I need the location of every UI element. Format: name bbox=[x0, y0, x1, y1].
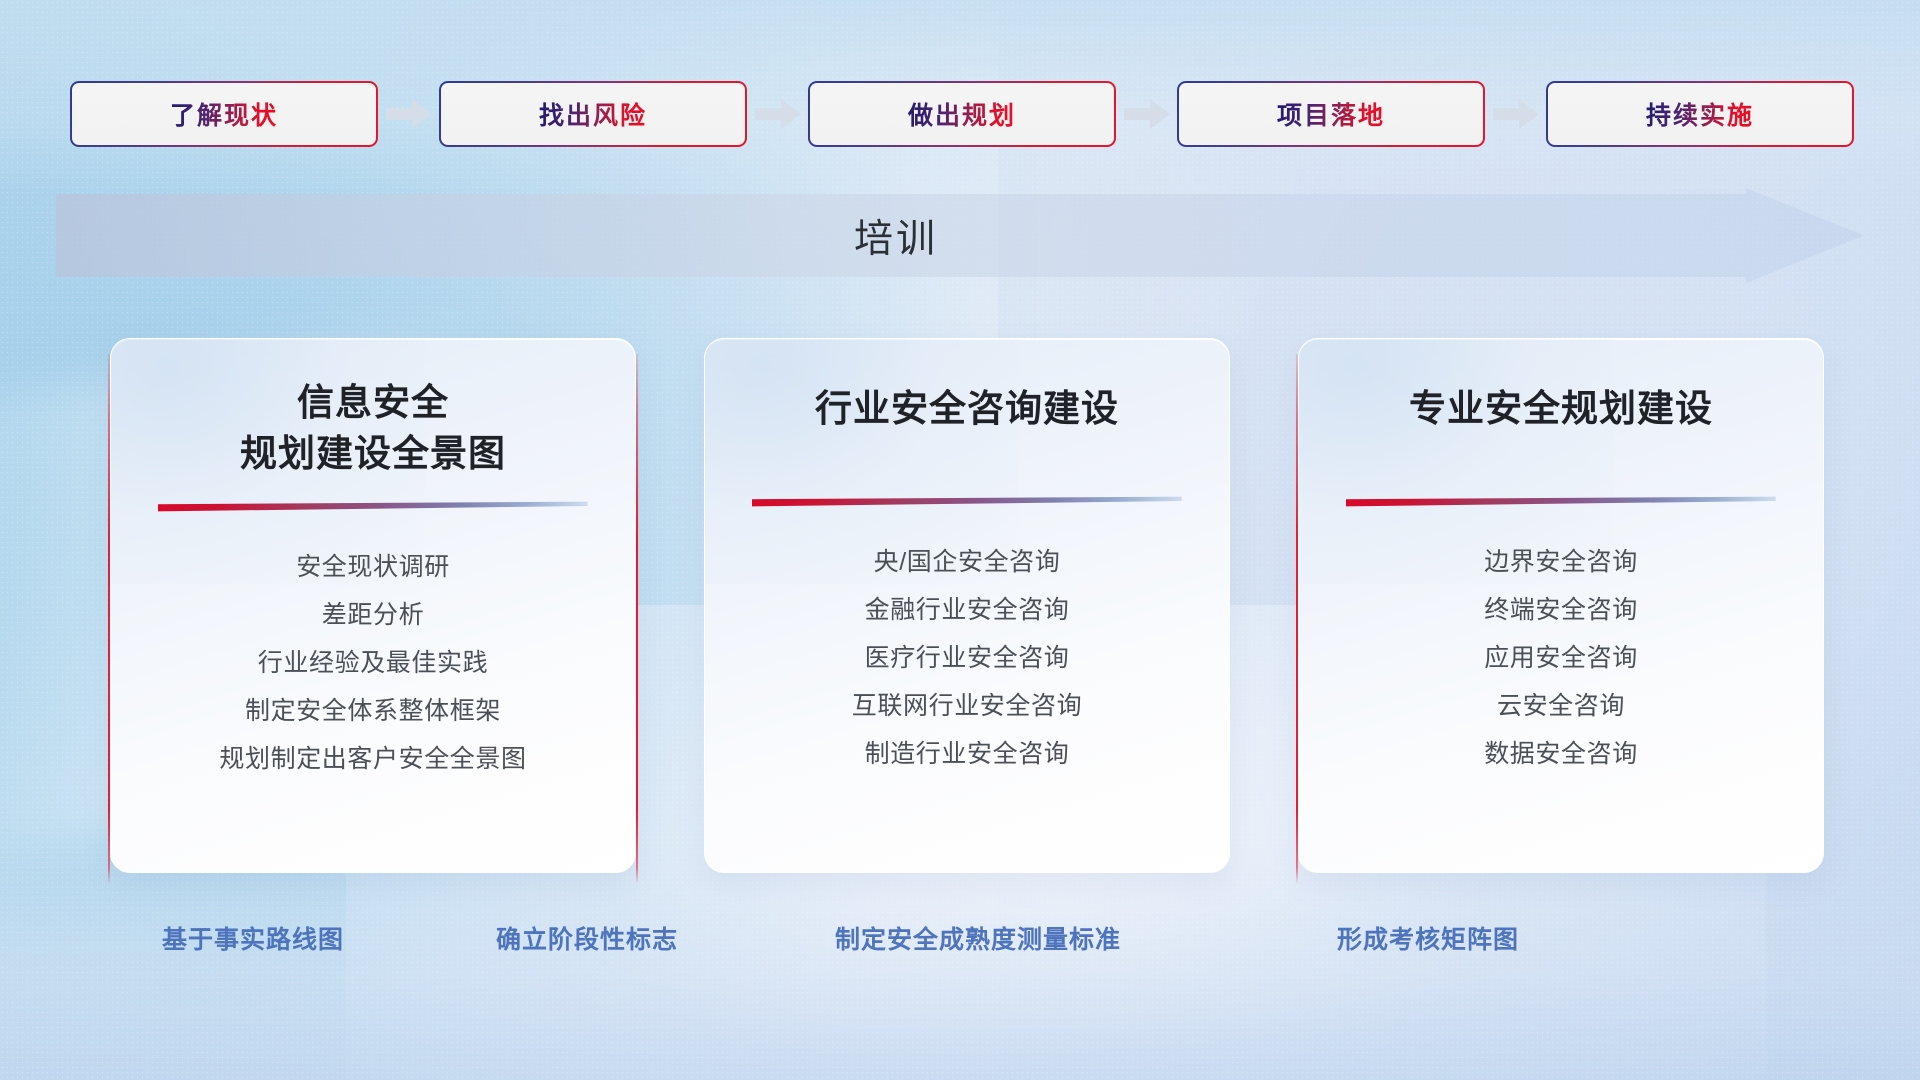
card-divider bbox=[752, 496, 1182, 510]
bottom-label-3: 制定安全成熟度测量标准 bbox=[835, 920, 1121, 956]
list-item: 金融行业安全咨询 bbox=[705, 586, 1229, 634]
list-item: 边界安全咨询 bbox=[1299, 538, 1823, 586]
process-step-3[interactable]: 做出规划 bbox=[808, 81, 1116, 147]
card-wrapper-2: 行业安全咨询建设 bbox=[702, 338, 1232, 883]
card-wrapper-3: 专业安全规划建设 bbox=[1296, 338, 1826, 883]
list-item: 数据安全咨询 bbox=[1299, 730, 1823, 778]
list-item: 制定安全体系整体框架 bbox=[111, 687, 635, 735]
list-item: 终端安全咨询 bbox=[1299, 586, 1823, 634]
slide-stage: 了解现状 找出风险 做出规划 项目落地 bbox=[0, 0, 1920, 1080]
card-item-list: 安全现状调研 差距分析 行业经验及最佳实践 制定安全体系整体框架 规划制定出客户… bbox=[111, 543, 635, 783]
list-item: 行业经验及最佳实践 bbox=[111, 639, 635, 687]
card-title-line: 专业安全规划建设 bbox=[1409, 383, 1713, 434]
right-arrow-icon bbox=[1485, 97, 1546, 131]
process-step-label: 持续实施 bbox=[1646, 96, 1754, 132]
card-item-list: 央/国企安全咨询 金融行业安全咨询 医疗行业安全咨询 互联网行业安全咨询 制造行… bbox=[705, 538, 1229, 778]
card-title-line: 行业安全咨询建设 bbox=[815, 383, 1119, 434]
training-banner: 培训 bbox=[56, 188, 1864, 283]
list-item: 医疗行业安全咨询 bbox=[705, 634, 1229, 682]
card-title-line: 规划建设全景图 bbox=[240, 428, 506, 479]
card-title: 信息安全 规划建设全景图 bbox=[240, 377, 506, 479]
right-arrow-icon bbox=[747, 97, 808, 131]
card-wrapper-1: 信息安全 规划建设全景图 bbox=[108, 338, 638, 883]
card-divider bbox=[158, 501, 588, 515]
list-item: 应用安全咨询 bbox=[1299, 634, 1823, 682]
list-item: 安全现状调研 bbox=[111, 543, 635, 591]
process-step-5[interactable]: 持续实施 bbox=[1546, 81, 1854, 147]
bottom-label-row: 基于事实路线图 确立阶段性标志 制定安全成熟度测量标准 形成考核矩阵图 bbox=[0, 920, 1920, 960]
bottom-label-2: 确立阶段性标志 bbox=[496, 920, 678, 956]
cards-row: 信息安全 规划建设全景图 bbox=[108, 338, 1826, 883]
process-step-2[interactable]: 找出风险 bbox=[439, 81, 747, 147]
list-item: 云安全咨询 bbox=[1299, 682, 1823, 730]
card-right-accent-bar bbox=[636, 354, 638, 884]
process-step-label: 项目落地 bbox=[1277, 96, 1385, 132]
card-title-line: 信息安全 bbox=[240, 377, 506, 428]
process-step-4[interactable]: 项目落地 bbox=[1177, 81, 1485, 147]
card-title: 专业安全规划建设 bbox=[1409, 383, 1713, 434]
process-step-label: 找出风险 bbox=[539, 96, 647, 132]
process-step-label: 做出规划 bbox=[908, 96, 1016, 132]
process-step-1[interactable]: 了解现状 bbox=[70, 81, 378, 147]
bottom-label-4: 形成考核矩阵图 bbox=[1337, 920, 1519, 956]
training-banner-label: 培训 bbox=[56, 188, 1736, 283]
bottom-label-1: 基于事实路线图 bbox=[162, 920, 344, 956]
card-item-list: 边界安全咨询 终端安全咨询 应用安全咨询 云安全咨询 数据安全咨询 bbox=[1299, 538, 1823, 778]
list-item: 制造行业安全咨询 bbox=[705, 730, 1229, 778]
right-arrow-icon bbox=[378, 97, 439, 131]
process-step-row: 了解现状 找出风险 做出规划 项目落地 bbox=[70, 80, 1854, 148]
list-item: 差距分析 bbox=[111, 591, 635, 639]
right-arrow-icon bbox=[1116, 97, 1177, 131]
card-information-security-panorama[interactable]: 信息安全 规划建设全景图 bbox=[110, 338, 636, 873]
card-title: 行业安全咨询建设 bbox=[815, 383, 1119, 434]
card-industry-security-consulting[interactable]: 行业安全咨询建设 bbox=[704, 338, 1230, 873]
card-professional-security-planning[interactable]: 专业安全规划建设 bbox=[1298, 338, 1824, 873]
list-item: 互联网行业安全咨询 bbox=[705, 682, 1229, 730]
card-divider bbox=[1346, 496, 1776, 510]
process-step-label: 了解现状 bbox=[170, 96, 278, 132]
list-item: 规划制定出客户安全全景图 bbox=[111, 735, 635, 783]
list-item: 央/国企安全咨询 bbox=[705, 538, 1229, 586]
